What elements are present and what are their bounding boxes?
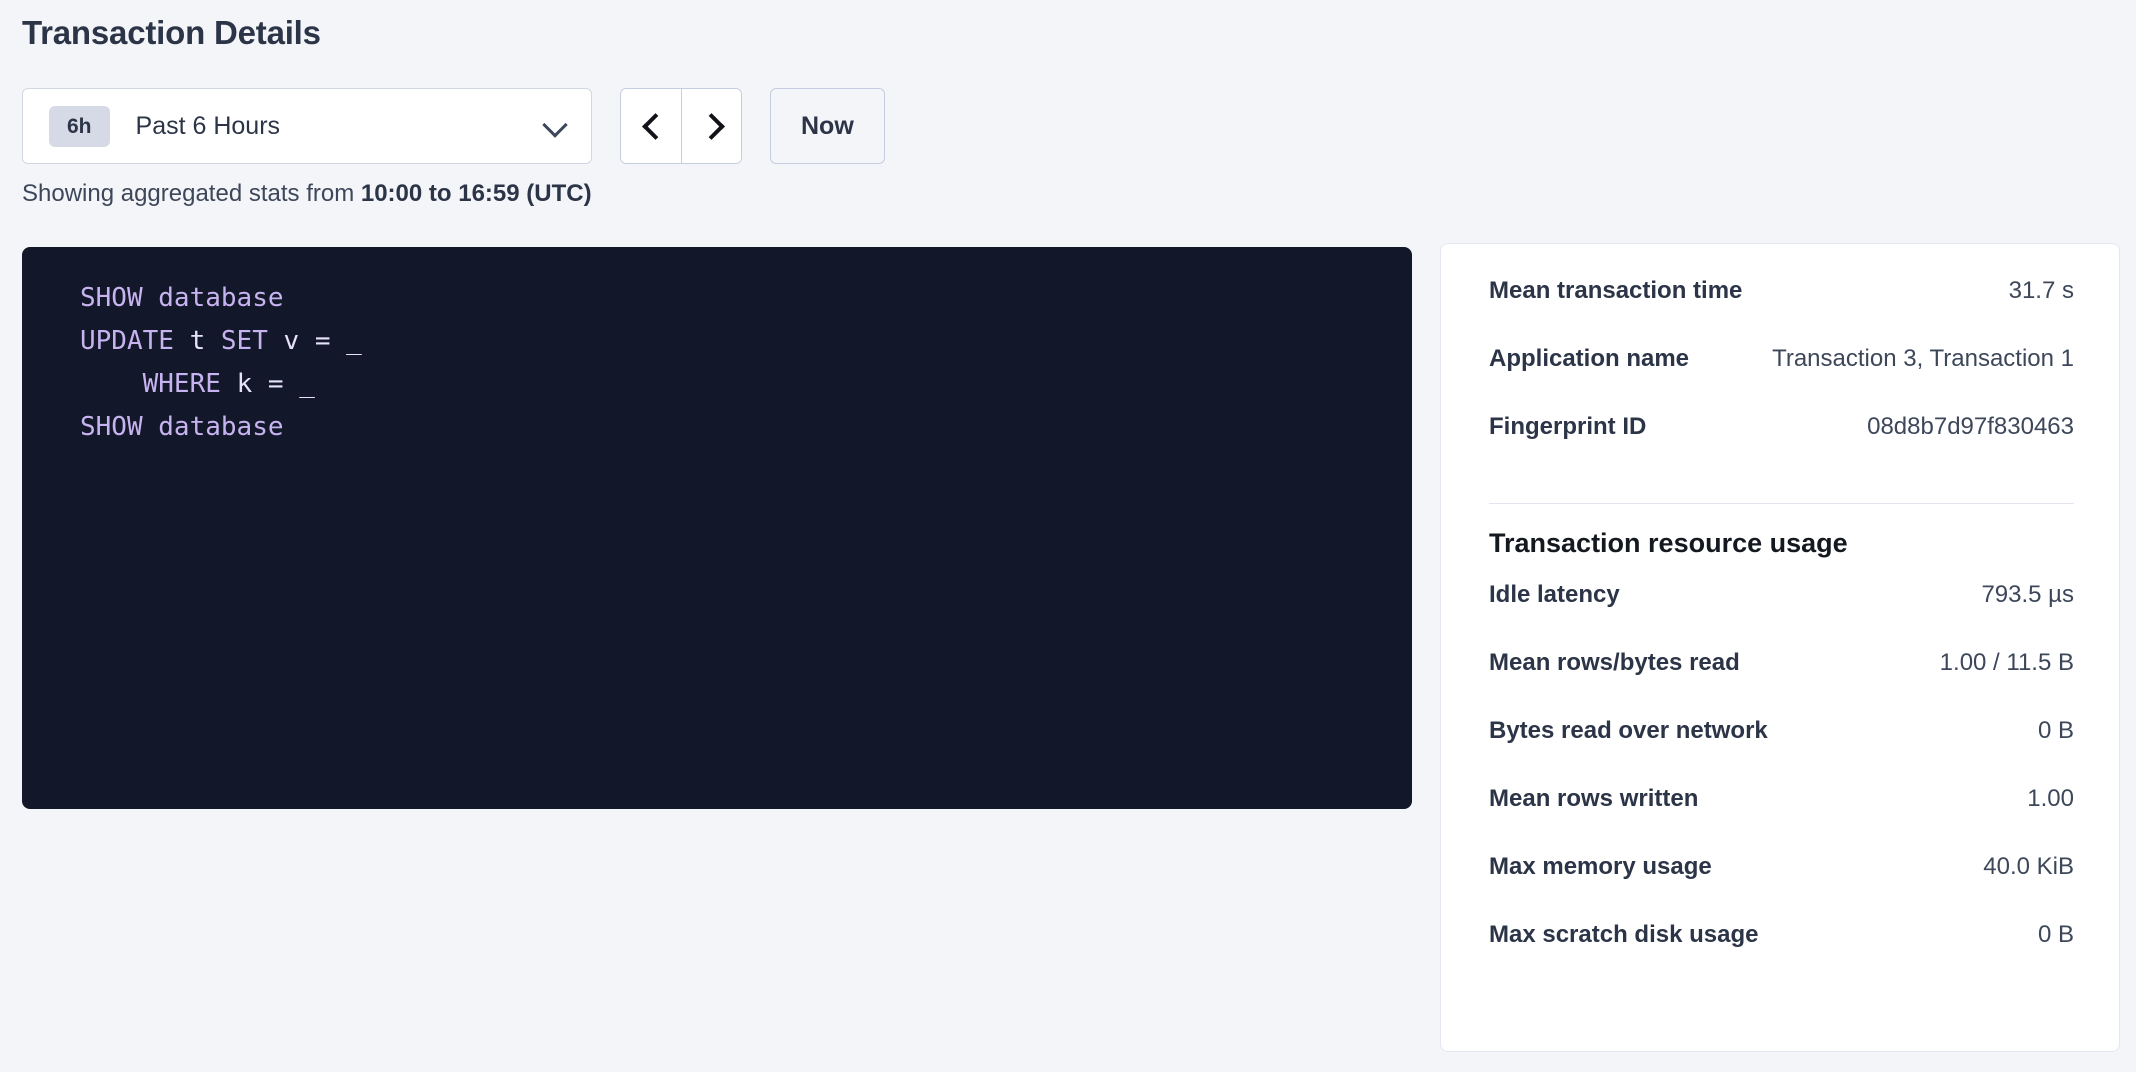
- chevron-down-icon: [543, 113, 569, 139]
- stat-label: Max memory usage: [1489, 853, 1712, 881]
- next-period-button[interactable]: [681, 89, 741, 163]
- page-title: Transaction Details: [22, 14, 321, 52]
- stat-value: 31.7 s: [1991, 277, 2074, 305]
- stat-row: Mean transaction time 31.7 s: [1489, 277, 2074, 345]
- time-range-badge: 6h: [49, 106, 110, 147]
- stat-row: Mean rows/bytes read 1.00 / 11.5 B: [1489, 649, 2074, 717]
- section-divider: [1489, 503, 2074, 504]
- resource-stats-list: Idle latency 793.5 µs Mean rows/bytes re…: [1489, 581, 2074, 989]
- stat-label: Application name: [1489, 345, 1689, 373]
- chevron-left-icon: [640, 115, 662, 137]
- stat-row: Max memory usage 40.0 KiB: [1489, 853, 2074, 921]
- stat-row: Application name Transaction 3, Transact…: [1489, 345, 2074, 413]
- stat-value: Transaction 3, Transaction 1: [1754, 345, 2074, 373]
- stat-value: 40.0 KiB: [1965, 853, 2074, 881]
- previous-period-button[interactable]: [621, 89, 681, 163]
- stat-row: Max scratch disk usage 0 B: [1489, 921, 2074, 989]
- sql-statement-panel[interactable]: SHOW database UPDATE t SET v = _ WHERE k…: [22, 247, 1412, 809]
- stat-label: Mean transaction time: [1489, 277, 1742, 305]
- summary-stats-list: Mean transaction time 31.7 s Application…: [1489, 277, 2074, 481]
- time-range-select[interactable]: 6h Past 6 Hours: [22, 88, 592, 164]
- stat-value: 08d8b7d97f830463: [1849, 413, 2074, 441]
- transaction-details-page: Transaction Details 6h Past 6 Hours Now …: [0, 0, 2136, 1072]
- stat-label: Idle latency: [1489, 581, 1620, 609]
- resource-usage-title: Transaction resource usage: [1489, 528, 2074, 559]
- stat-label: Mean rows/bytes read: [1489, 649, 1740, 677]
- stat-row: Mean rows written 1.00: [1489, 785, 2074, 853]
- time-range-toolbar: 6h Past 6 Hours Now: [22, 88, 885, 164]
- stat-value: 1.00 / 11.5 B: [1922, 649, 2074, 677]
- aggregation-range-value: 10:00 to 16:59 (UTC): [361, 180, 592, 207]
- stat-value: 0 B: [2020, 717, 2074, 745]
- aggregation-range-prefix: Showing aggregated stats from: [22, 180, 361, 207]
- stat-value: 793.5 µs: [1963, 581, 2074, 609]
- now-button[interactable]: Now: [770, 88, 885, 164]
- stat-row: Fingerprint ID 08d8b7d97f830463: [1489, 413, 2074, 481]
- stat-label: Fingerprint ID: [1489, 413, 1646, 441]
- sql-statement-text: SHOW database UPDATE t SET v = _ WHERE k…: [22, 277, 1412, 449]
- stat-label: Mean rows written: [1489, 785, 1698, 813]
- stat-value: 0 B: [2020, 921, 2074, 949]
- stat-row: Idle latency 793.5 µs: [1489, 581, 2074, 649]
- stat-row: Bytes read over network 0 B: [1489, 717, 2074, 785]
- stat-value: 1.00: [2009, 785, 2074, 813]
- time-range-label: Past 6 Hours: [136, 112, 543, 141]
- statistics-card: Mean transaction time 31.7 s Application…: [1440, 243, 2120, 1052]
- stat-label: Max scratch disk usage: [1489, 921, 1758, 949]
- aggregation-range-text: Showing aggregated stats from 10:00 to 1…: [22, 180, 592, 208]
- time-nav-group: [620, 88, 742, 164]
- chevron-right-icon: [701, 115, 723, 137]
- stat-label: Bytes read over network: [1489, 717, 1768, 745]
